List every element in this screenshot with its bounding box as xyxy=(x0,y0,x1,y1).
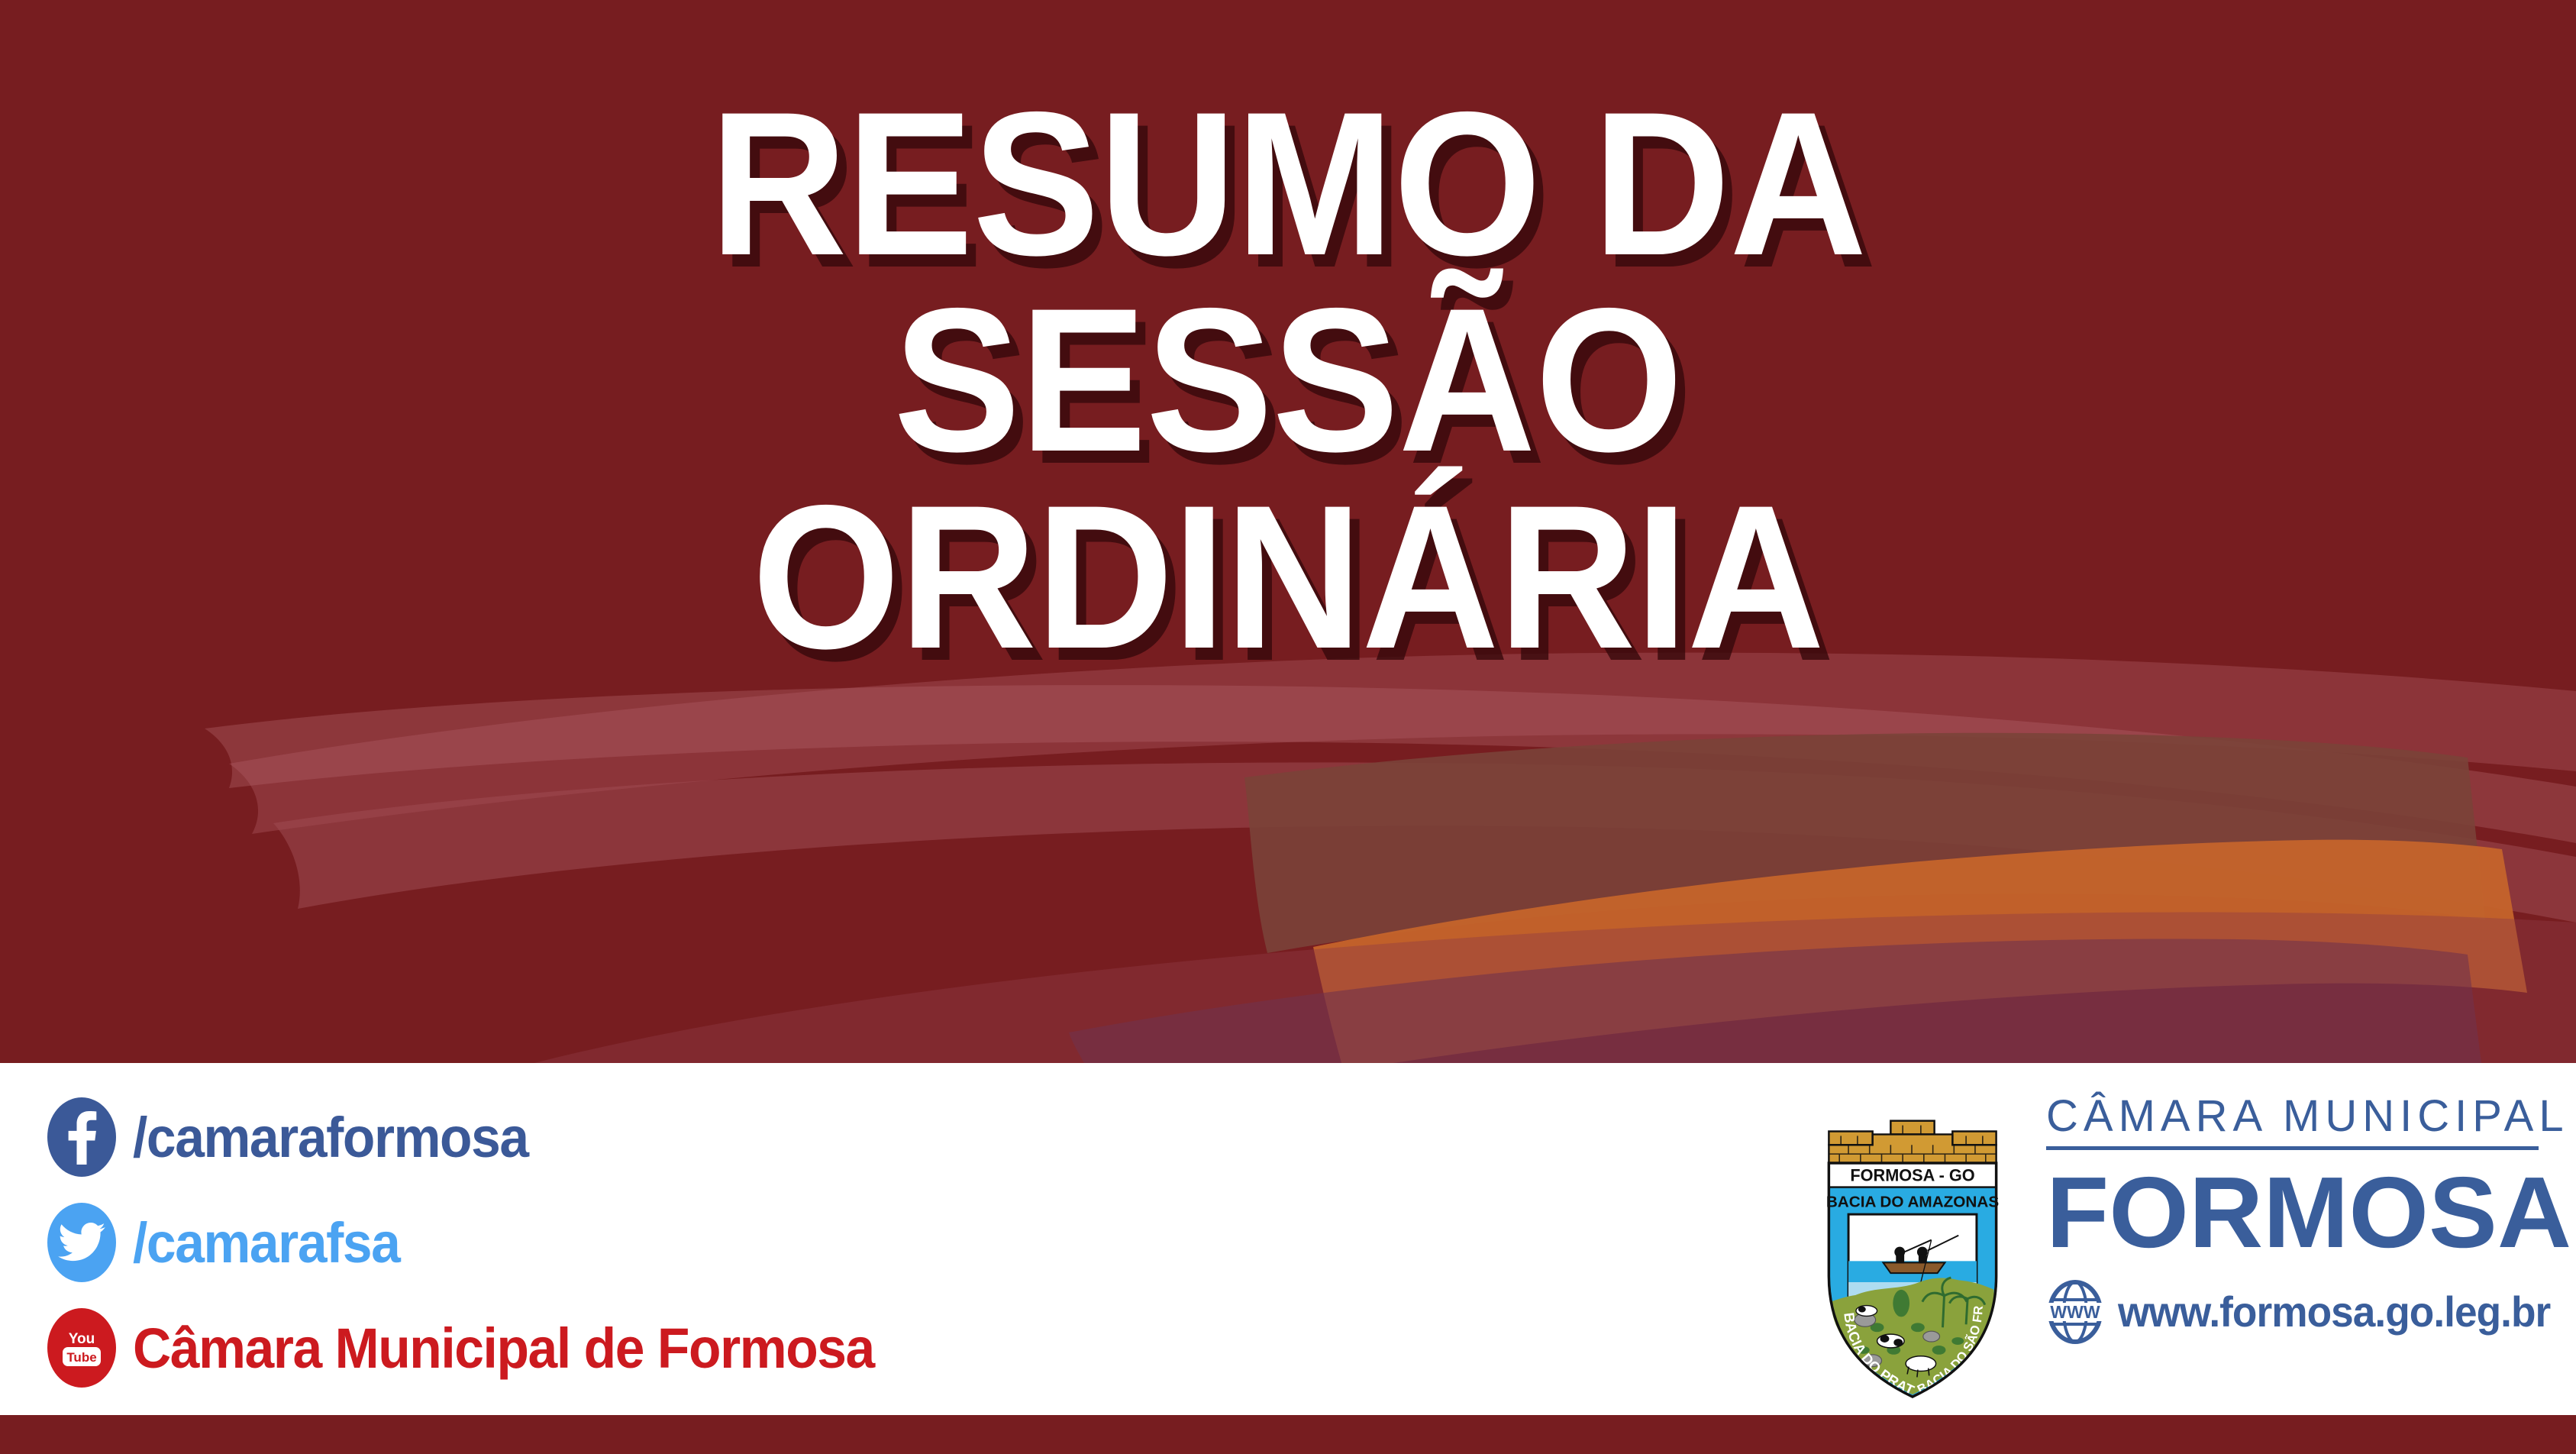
wave-rose-4 xyxy=(534,913,2576,1063)
youtube-icon[interactable]: You Tube xyxy=(47,1308,116,1388)
wordmark-divider xyxy=(2046,1146,2539,1150)
title-line-1: RESUMO DA xyxy=(90,86,2486,282)
svg-text:Tube: Tube xyxy=(66,1350,96,1365)
social-row-twitter[interactable]: /camarafsa xyxy=(47,1190,1193,1295)
youtube-channel-name[interactable]: Câmara Municipal de Formosa xyxy=(133,1316,874,1381)
social-links-list: /camaraformosa /camarafsa You Tube xyxy=(47,1084,1193,1401)
twitter-icon[interactable] xyxy=(47,1203,116,1282)
institutional-logo: FORMOSA - GO BACIA DO AMAZONAS xyxy=(1817,1094,2550,1407)
svg-text:You: You xyxy=(69,1331,95,1347)
hero-section: RESUMO DA SESSÃO ORDINÁRIA xyxy=(0,0,2576,1063)
social-row-facebook[interactable]: /camaraformosa xyxy=(47,1084,1193,1190)
logo-line-camara-municipal: CÂMARA MUNICIPAL xyxy=(2046,1094,2550,1140)
logo-line-formosa: FORMOSA xyxy=(2046,1162,2560,1263)
poster-canvas: RESUMO DA SESSÃO ORDINÁRIA /camaraformos… xyxy=(0,0,2576,1454)
bottom-accent-strip xyxy=(0,1415,2576,1454)
coat-of-arms-icon: FORMOSA - GO BACIA DO AMAZONAS xyxy=(1817,1101,2008,1403)
website-row[interactable]: WWW www.formosa.go.leg.br xyxy=(2046,1280,2550,1344)
poster-title: RESUMO DA SESSÃO ORDINÁRIA xyxy=(0,86,2576,675)
footer-bar: /camaraformosa /camarafsa You Tube xyxy=(0,1063,2576,1415)
svg-text:WWW: WWW xyxy=(2050,1302,2100,1322)
svg-text:FORMOSA - GO: FORMOSA - GO xyxy=(1850,1166,1974,1185)
social-row-youtube[interactable]: You Tube Câmara Municipal de Formosa xyxy=(47,1295,1193,1401)
title-line-3: ORDINÁRIA xyxy=(90,479,2486,675)
title-line-2: SESSÃO xyxy=(90,282,2486,478)
wordmark: CÂMARA MUNICIPAL FORMOSA WWW www.formosa… xyxy=(2046,1094,2550,1344)
svg-text:BACIA DO AMAZONAS: BACIA DO AMAZONAS xyxy=(1826,1193,2000,1210)
facebook-handle[interactable]: /camaraformosa xyxy=(133,1105,528,1170)
globe-www-icon: WWW xyxy=(2046,1280,2104,1344)
website-url[interactable]: www.formosa.go.leg.br xyxy=(2118,1287,2550,1336)
facebook-icon[interactable] xyxy=(47,1097,116,1177)
twitter-handle[interactable]: /camarafsa xyxy=(133,1210,399,1275)
